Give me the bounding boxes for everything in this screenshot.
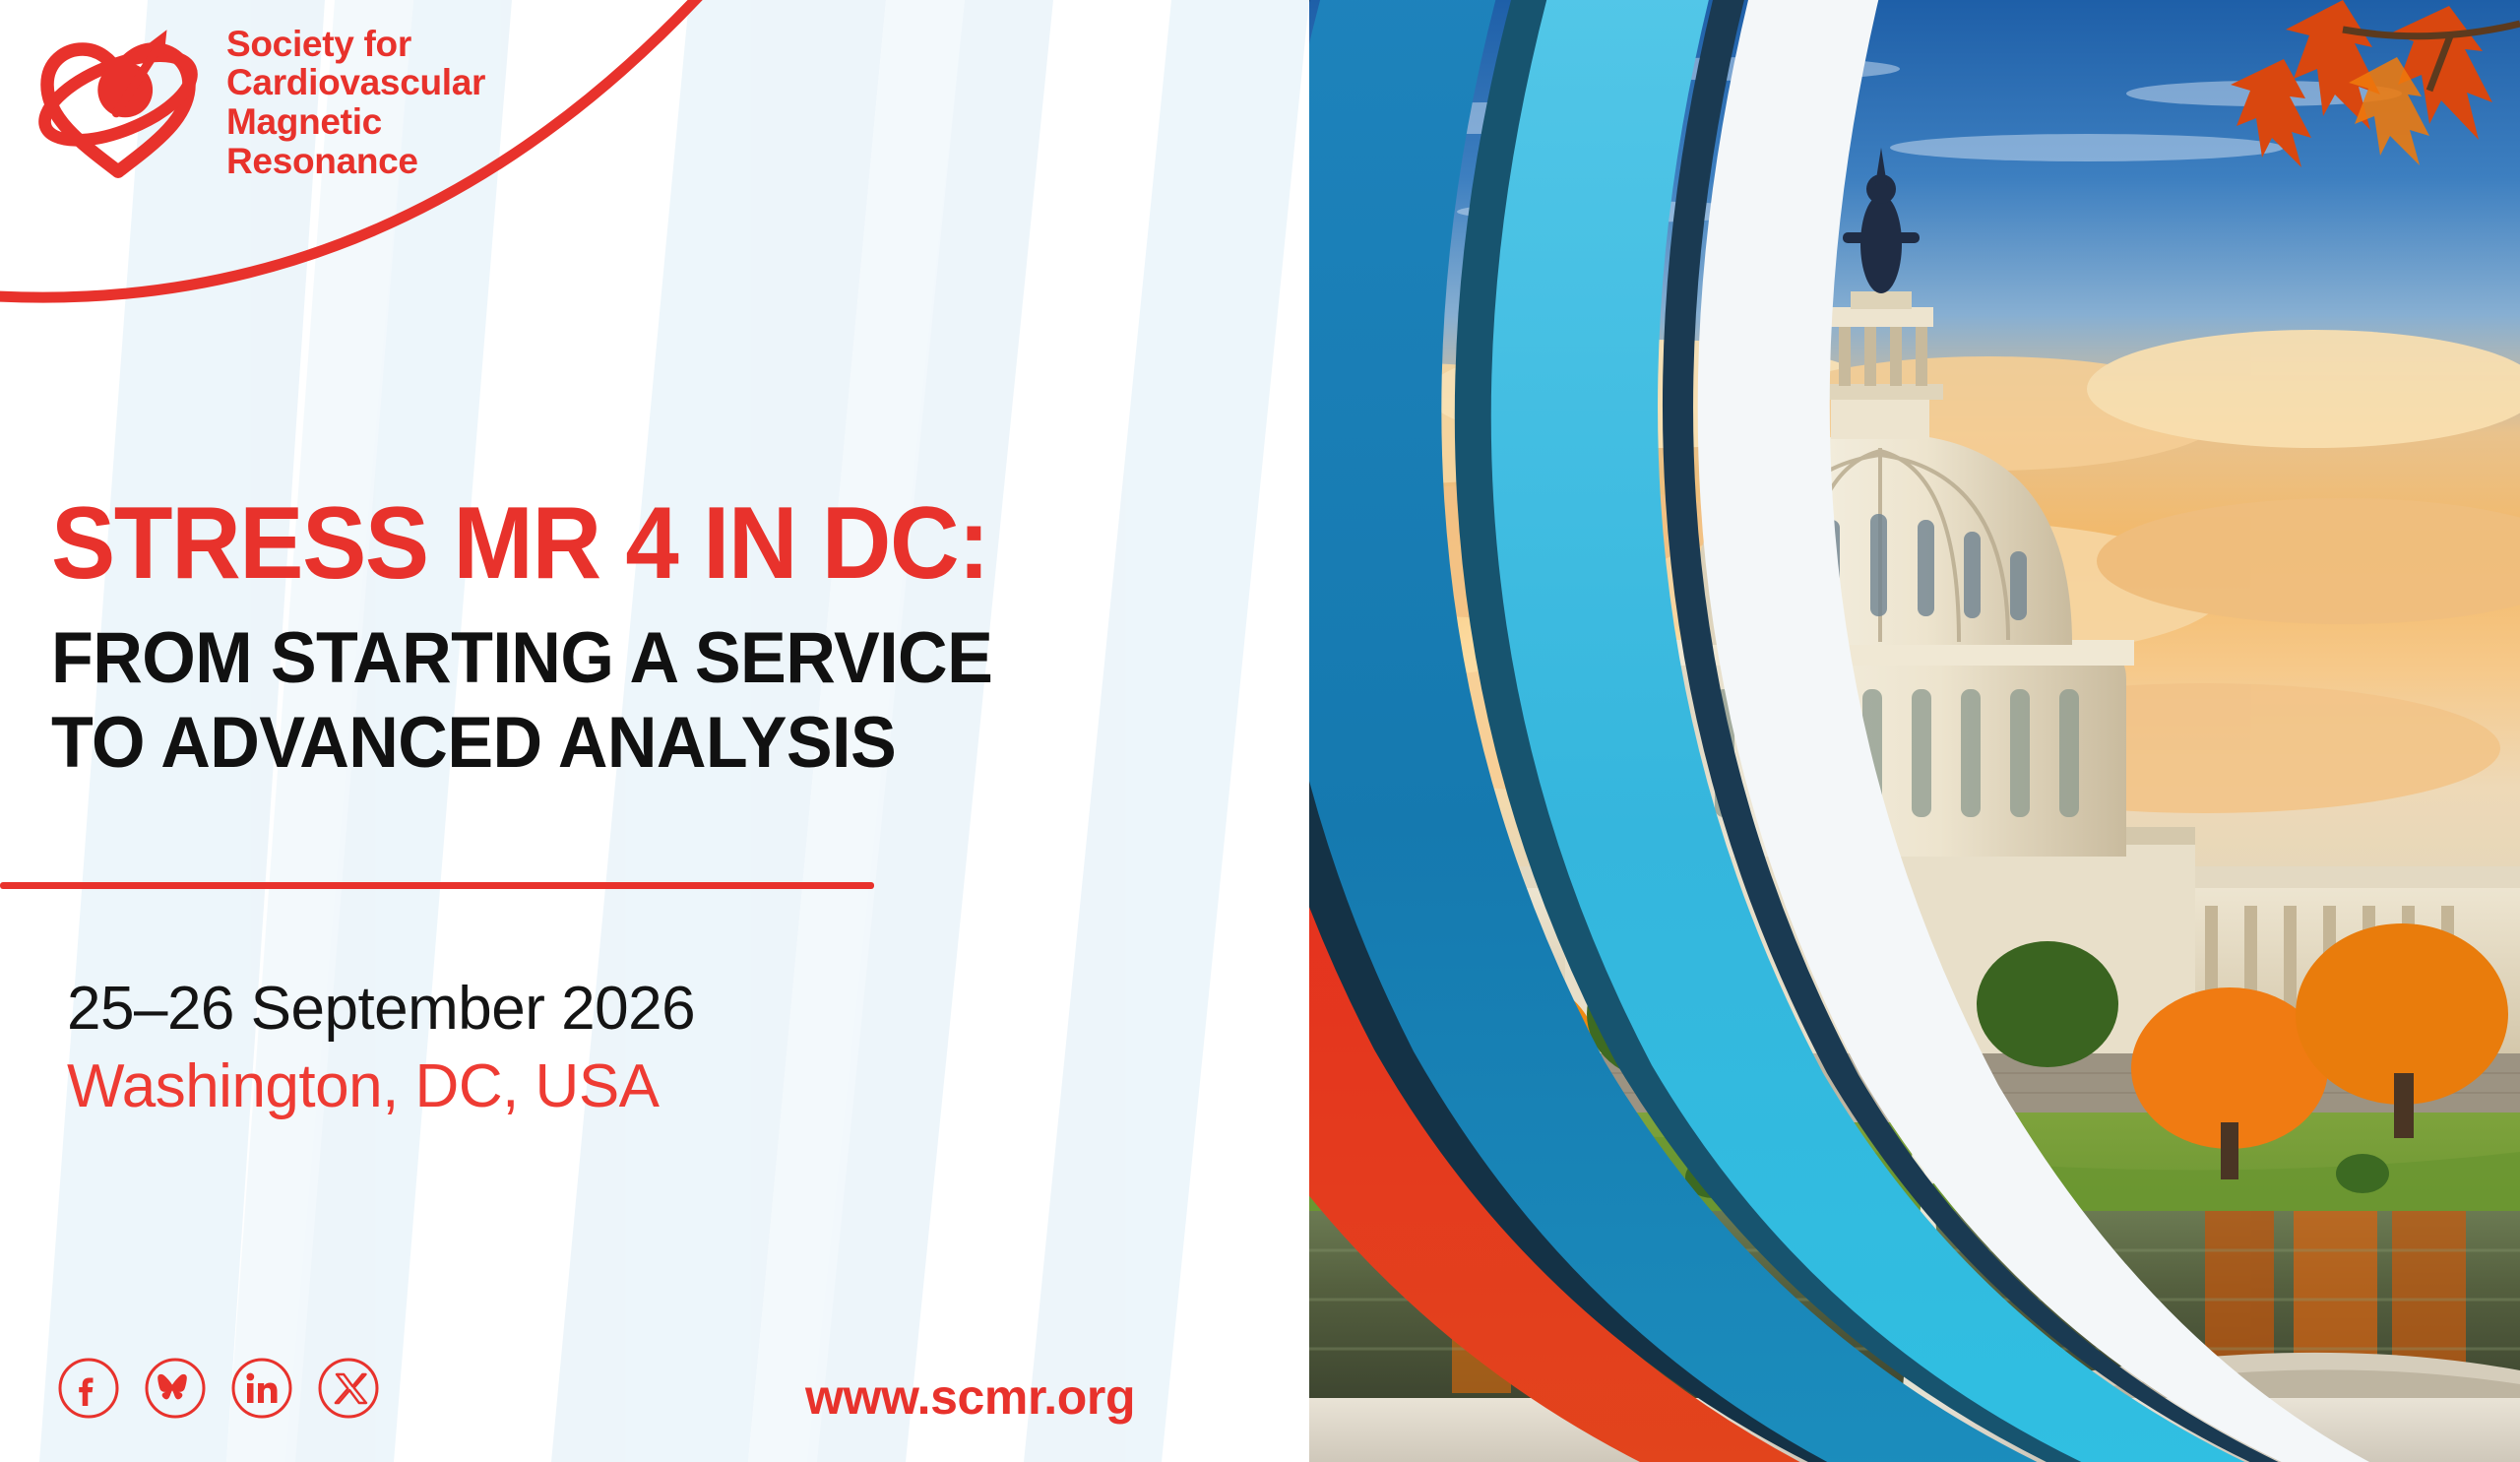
organization-name: Society for Cardiovascular Magnetic Reso… xyxy=(226,25,485,180)
event-details: 25–26 September 2026 Washington, DC, USA xyxy=(67,970,695,1126)
red-divider-rule xyxy=(0,882,874,889)
event-subtitle-line-2: TO ADVANCED ANALYSIS xyxy=(51,701,1009,786)
event-title: STRESS MR 4 IN DC: xyxy=(51,492,988,595)
logo-line-3: Magnetic xyxy=(226,102,485,142)
left-content-panel: Society for Cardiovascular Magnetic Reso… xyxy=(0,0,1309,1462)
website-url[interactable]: www.scmr.org xyxy=(805,1368,1135,1426)
facebook-icon[interactable] xyxy=(57,1357,120,1420)
social-links[interactable] xyxy=(57,1357,380,1420)
bluesky-icon[interactable] xyxy=(144,1357,207,1420)
x-twitter-icon[interactable] xyxy=(317,1357,380,1420)
scmr-logo[interactable]: Society for Cardiovascular Magnetic Reso… xyxy=(30,14,485,191)
heart-orbit-arrow-logo-icon xyxy=(30,14,207,191)
logo-line-1: Society for xyxy=(226,25,485,64)
ribbon-swoosh-group xyxy=(1240,0,2520,1462)
linkedin-icon[interactable] xyxy=(230,1357,293,1420)
event-subtitle: FROM STARTING A SERVICE TO ADVANCED ANAL… xyxy=(51,616,1009,786)
event-banner: Society for Cardiovascular Magnetic Reso… xyxy=(0,0,2520,1462)
capitol-artwork-panel xyxy=(1240,0,2520,1462)
event-location: Washington, DC, USA xyxy=(67,1048,695,1125)
event-date: 25–26 September 2026 xyxy=(67,970,695,1048)
logo-line-2: Cardiovascular xyxy=(226,63,485,102)
headline-block: STRESS MR 4 IN DC: FROM STARTING A SERVI… xyxy=(51,492,1048,786)
event-subtitle-line-1: FROM STARTING A SERVICE xyxy=(51,616,1009,701)
logo-line-4: Resonance xyxy=(226,142,485,181)
